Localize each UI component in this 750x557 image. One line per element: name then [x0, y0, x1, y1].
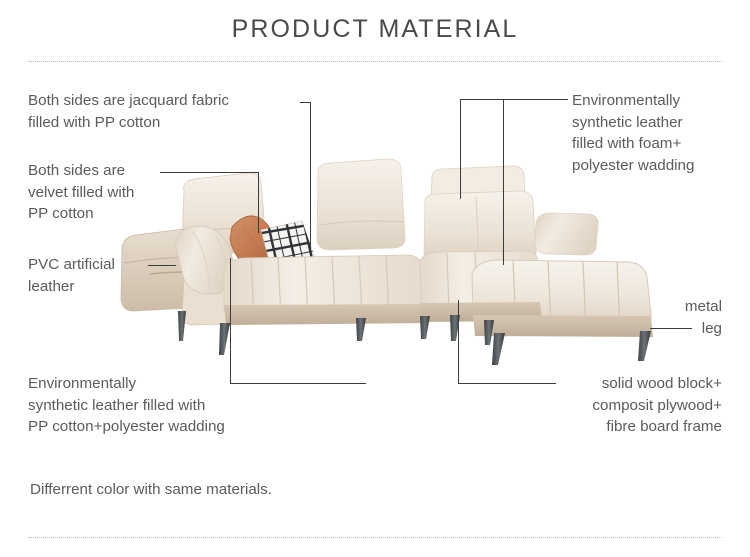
callout-velvet: Both sides are velvet filled with PP cot… — [28, 160, 188, 225]
leader-line-eco-right-h — [460, 99, 568, 100]
page-title: PRODUCT MATERIAL — [0, 14, 750, 44]
divider-bottom — [28, 537, 722, 538]
metal-leg-3 — [356, 318, 366, 341]
divider-top — [28, 61, 722, 62]
leader-line-velvet-v — [258, 172, 259, 233]
sofa-base-rail-left — [224, 304, 428, 325]
callout-frame-materials: solid wood block+ composit plywood+ fibr… — [520, 373, 722, 438]
leader-line-eco-right-v1 — [460, 99, 461, 199]
callout-eco-leather-back: Environmentally synthetic leather filled… — [572, 90, 732, 176]
callout-pvc-leather: PVC artificial leather — [28, 254, 168, 297]
leader-line-jacquard-v — [310, 102, 311, 249]
metal-leg-2 — [219, 323, 230, 355]
metal-leg-1 — [178, 311, 186, 341]
product-material-infographic: PRODUCT MATERIAL — [0, 0, 750, 557]
metal-leg-7 — [492, 333, 505, 365]
sofa-product-image — [120, 155, 680, 370]
footer-note: Differrent color with same materials. — [30, 479, 272, 500]
callout-jacquard-fabric: Both sides are jacquard fabric filled wi… — [28, 90, 306, 133]
leader-line-eco-left-v — [230, 258, 231, 384]
sofa-backrest-middle — [317, 159, 405, 250]
callout-metal-leg: metal leg — [640, 296, 722, 339]
sofa-arm-right — [535, 213, 598, 255]
leader-line-frame-v — [458, 300, 459, 384]
leader-line-eco-right-v2 — [503, 99, 504, 265]
callout-eco-leather-seat: Environmentally synthetic leather filled… — [28, 373, 318, 438]
metal-leg-4 — [420, 316, 430, 339]
